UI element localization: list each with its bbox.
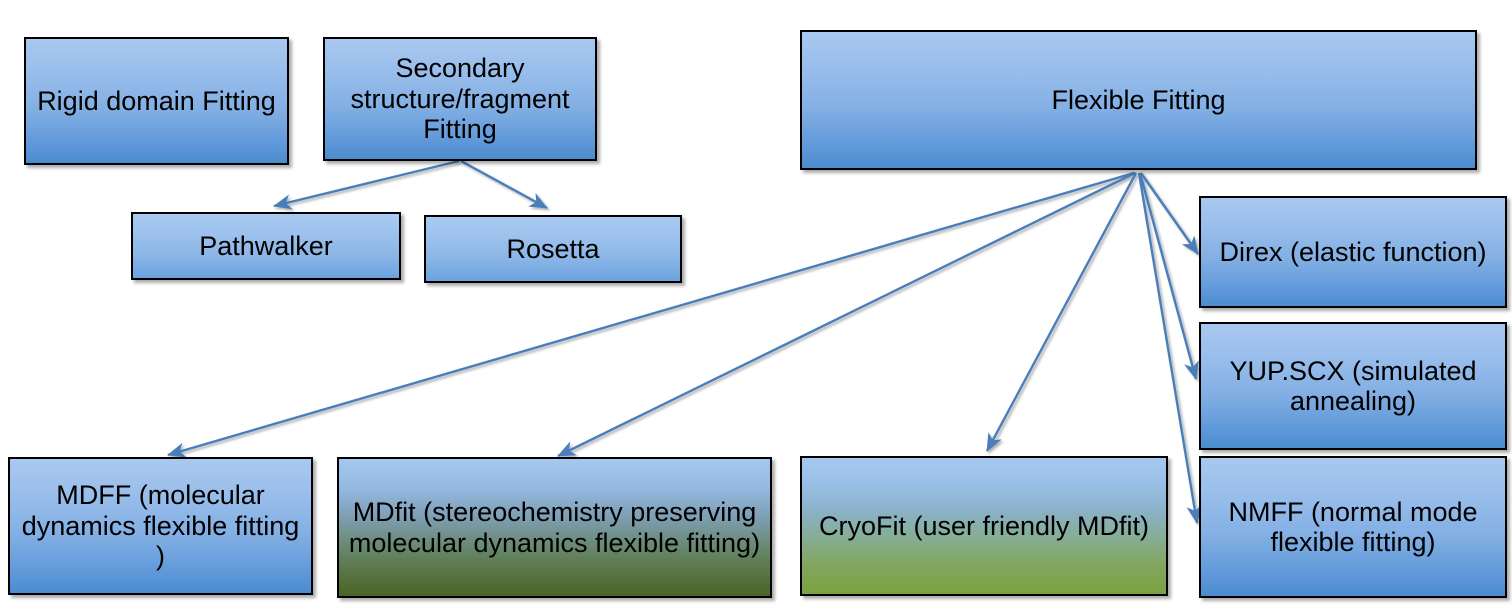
node-label: Flexible Fitting: [808, 85, 1469, 116]
node-label: Direx (elastic function): [1207, 237, 1499, 268]
node-rigid-domain-fitting[interactable]: Rigid domain Fitting: [24, 37, 289, 165]
arrow-secondary-to-rosetta: [461, 161, 547, 208]
node-pathwalker[interactable]: Pathwalker: [131, 212, 401, 280]
node-label: NMFF (normal mode flexible fitting): [1207, 497, 1499, 558]
node-mdff[interactable]: MDFF (molecular dynamics flexible fittin…: [8, 457, 313, 595]
node-rosetta[interactable]: Rosetta: [424, 215, 682, 283]
node-label: MDfit (stereochemistry preserving molecu…: [345, 497, 764, 558]
node-yup-scx[interactable]: YUP.SCX (simulated annealing): [1199, 322, 1507, 450]
node-label: Pathwalker: [139, 231, 393, 262]
node-label: Secondary structure/fragment Fitting: [331, 53, 589, 145]
node-secondary-structure-fitting[interactable]: Secondary structure/fragment Fitting: [323, 37, 597, 161]
arrow-flexible-to-yupscx: [1140, 173, 1196, 379]
node-label: CryoFit (user friendly MDfit): [808, 511, 1160, 542]
node-nmff[interactable]: NMFF (normal mode flexible fitting): [1199, 456, 1507, 598]
node-mdfit[interactable]: MDfit (stereochemistry preserving molecu…: [337, 457, 772, 598]
arrow-secondary-to-pathwalker: [274, 161, 459, 206]
node-label: Rigid domain Fitting: [32, 86, 281, 117]
node-cryofit[interactable]: CryoFit (user friendly MDfit): [800, 456, 1168, 596]
arrow-flexible-to-cryofit: [987, 173, 1136, 451]
arrow-flexible-to-direx: [1141, 173, 1198, 254]
node-flexible-fitting[interactable]: Flexible Fitting: [800, 30, 1477, 170]
node-label: MDFF (molecular dynamics flexible fittin…: [16, 480, 305, 572]
node-label: Rosetta: [432, 234, 674, 265]
node-direx[interactable]: Direx (elastic function): [1199, 196, 1507, 308]
diagram-canvas: Rigid domain Fitting Secondary structure…: [0, 0, 1512, 610]
node-label: YUP.SCX (simulated annealing): [1207, 356, 1499, 417]
